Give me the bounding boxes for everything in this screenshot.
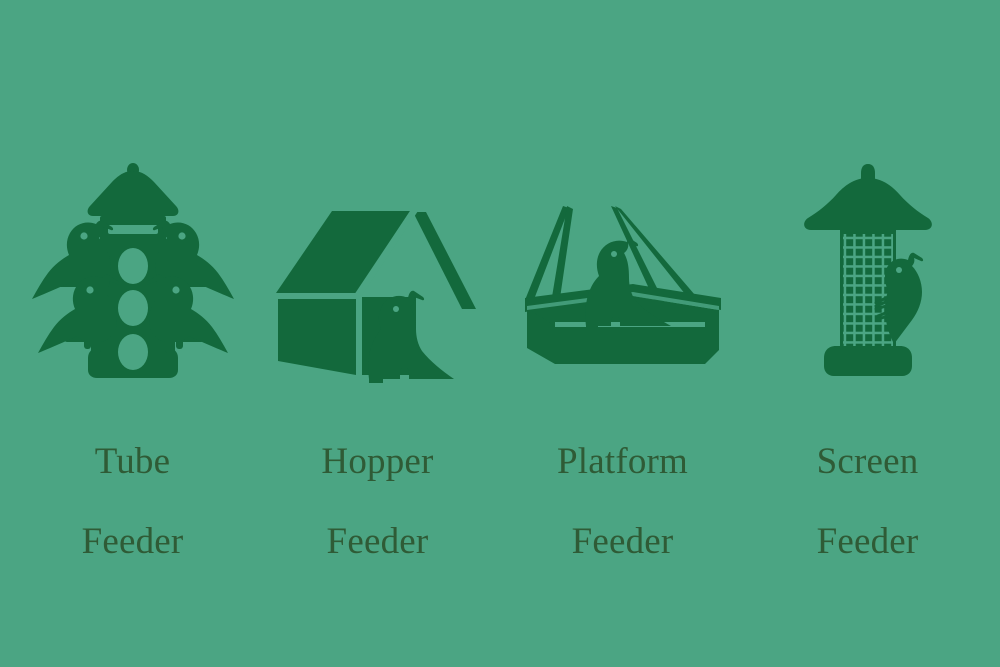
mesh-grid [843, 234, 893, 346]
screen-feeder-icon [745, 140, 990, 380]
feeder-label-line2: Feeder [321, 522, 433, 562]
feeder-item-tube: Tube Feeder [10, 0, 255, 667]
feeder-item-platform: Platform Feeder [500, 0, 745, 667]
feeder-label-tube: Tube Feeder [82, 402, 184, 602]
hopper-feeder-icon [255, 140, 500, 380]
feeder-label-line2: Feeder [557, 522, 688, 562]
feeder-label-line1: Tube [82, 442, 184, 482]
platform-feeder-icon [500, 140, 745, 380]
feeder-label-line1: Screen [817, 442, 919, 482]
feeder-label-line2: Feeder [82, 522, 184, 562]
feeder-item-hopper: Hopper Feeder [255, 0, 500, 667]
feeder-label-line1: Hopper [321, 442, 433, 482]
bird-feeder-infographic: Tube Feeder [0, 0, 1000, 667]
feeder-label-line2: Feeder [817, 522, 919, 562]
feeder-label-line1: Platform [557, 442, 688, 482]
feeder-label-screen: Screen Feeder [817, 402, 919, 602]
tube-feeder-icon [10, 140, 255, 380]
feeder-label-platform: Platform Feeder [557, 402, 688, 602]
feeder-item-screen: Screen Feeder [745, 0, 990, 667]
feeder-row: Tube Feeder [0, 0, 1000, 667]
feeder-label-hopper: Hopper Feeder [321, 402, 433, 602]
